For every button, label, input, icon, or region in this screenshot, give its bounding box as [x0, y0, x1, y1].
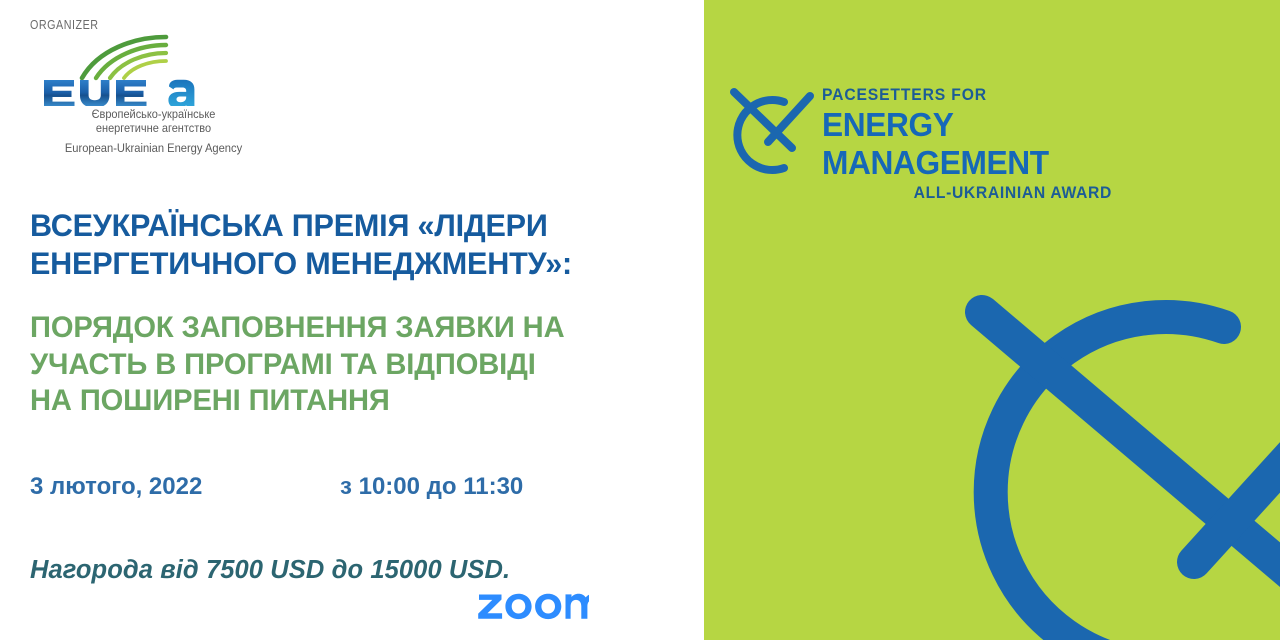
event-date: 3 лютого, 2022	[30, 473, 340, 501]
subheadline-line-3: НА ПОШИРЕНІ ПИТАННЯ	[30, 383, 680, 420]
award-line-3: ALL-UKRAINIAN AWARD	[837, 184, 1113, 203]
zoom-logo	[477, 588, 589, 628]
headline-line-2: ЕНЕРГЕТИЧНОГО МЕНЕДЖМЕНТУ»:	[30, 244, 670, 282]
subheadline-line-1: ПОРЯДОК ЗАПОВНЕННЯ ЗАЯВКИ НА	[30, 310, 680, 347]
euea-logo-icon	[30, 34, 275, 106]
webinar-poster: ORGANIZER	[0, 0, 1280, 640]
euea-subtitle-en: European-Ukrainian Energy Agency	[57, 140, 251, 156]
prize-amount: Нагорода від 7500 USD до 15000 USD.	[30, 556, 510, 585]
euea-subtitle-ua-line2: енергетичне агентство	[57, 122, 251, 136]
award-line-1: PACESETTERS FOR	[822, 86, 1107, 105]
schedule-row: 3 лютого, 2022 з 10:00 до 11:30	[30, 473, 670, 501]
euea-logo	[30, 34, 275, 106]
award-line-2: ENERGY MANAGEMENT	[822, 106, 1110, 182]
zoom-logo-icon	[477, 588, 589, 628]
euea-subtitle-ua-line1: Європейсько-українське	[57, 108, 251, 122]
pacesetters-watermark-icon	[894, 232, 1280, 640]
award-text-block: PACESETTERS FOR ENERGY MANAGEMENT ALL-UK…	[822, 86, 1122, 203]
headline: ВСЕУКРАЇНСЬКА ПРЕМІЯ «ЛІДЕРИ ЕНЕРГЕТИЧНО…	[30, 206, 670, 282]
headline-line-1: ВСЕУКРАЇНСЬКА ПРЕМІЯ «ЛІДЕРИ	[30, 206, 670, 244]
euea-subtitle: Європейсько-українське енергетичне агент…	[46, 108, 261, 156]
subheadline: ПОРЯДОК ЗАПОВНЕННЯ ЗАЯВКИ НА УЧАСТЬ В ПР…	[30, 310, 680, 420]
organizer-label: ORGANIZER	[30, 18, 241, 32]
left-content-panel: ORGANIZER	[0, 0, 704, 640]
pacesetters-emblem-icon	[712, 80, 824, 185]
organizer-block: ORGANIZER	[30, 18, 275, 156]
right-green-panel: PACESETTERS FOR ENERGY MANAGEMENT ALL-UK…	[704, 0, 1280, 640]
subheadline-line-2: УЧАСТЬ В ПРОГРАМІ ТА ВІДПОВІДІ	[30, 347, 680, 384]
award-lockup: PACESETTERS FOR ENERGY MANAGEMENT ALL-UK…	[712, 72, 1132, 192]
event-time: з 10:00 до 11:30	[340, 473, 523, 501]
